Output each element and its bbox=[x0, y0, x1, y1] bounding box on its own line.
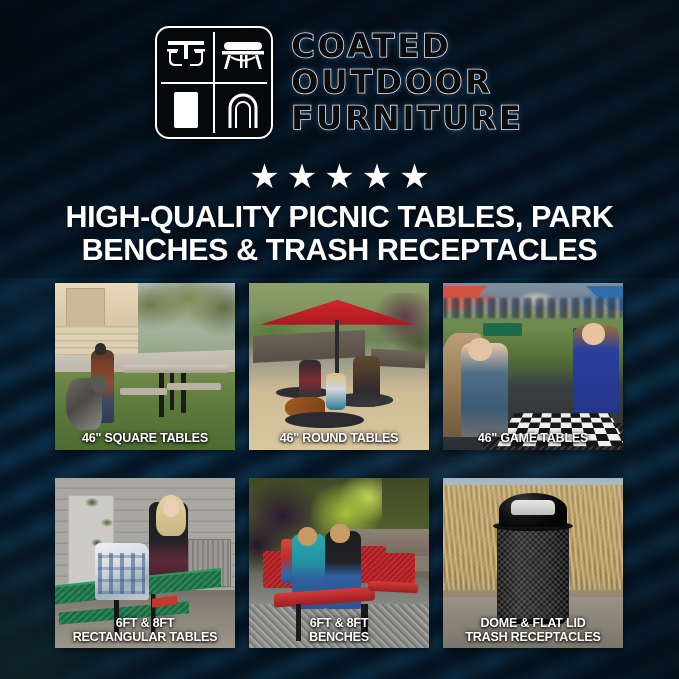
caption-line-1: 46" SQUARE TABLES bbox=[58, 432, 232, 446]
tile-caption: 6FT & 8FT RECTANGULAR TABLES bbox=[58, 617, 232, 644]
trash-receptacle-icon bbox=[157, 83, 214, 138]
caption-line-1: 46" ROUND TABLES bbox=[252, 432, 426, 446]
page-title: HIGH-QUALITY PICNIC TABLES, PARK BENCHES… bbox=[28, 201, 651, 267]
tile-caption: 46" GAME TABLES bbox=[446, 432, 620, 446]
scene-game-tables bbox=[443, 283, 623, 450]
promo-banner: COATED OUTDOOR FURNITURE ★ ★ ★ ★ ★ HIGH-… bbox=[0, 0, 679, 679]
star-icon: ★ bbox=[324, 160, 354, 194]
wordmark-line-2: OUTDOOR bbox=[291, 65, 523, 100]
caption-line-1: 6FT & 8FT bbox=[58, 617, 232, 631]
wordmark-line-3: FURNITURE bbox=[291, 101, 523, 136]
star-icon: ★ bbox=[249, 160, 279, 194]
product-tile-rectangular-tables[interactable]: 6FT & 8FT RECTANGULAR TABLES bbox=[55, 478, 235, 648]
brand-logo: COATED OUTDOOR FURNITURE bbox=[0, 26, 679, 139]
star-icon: ★ bbox=[362, 160, 392, 194]
caption-line-2: BENCHES bbox=[252, 631, 426, 645]
product-tile-grid: 46" SQUARE TABLES 46" ROUND TABLES bbox=[55, 283, 624, 648]
product-tile-trash-receptacles[interactable]: DOME & FLAT LID TRASH RECEPTACLES bbox=[443, 478, 623, 648]
picnic-table-icon bbox=[157, 28, 214, 83]
trash-can-body bbox=[497, 524, 569, 621]
scene-round-tables bbox=[249, 283, 429, 450]
headline-line-1: HIGH-QUALITY PICNIC TABLES, PARK bbox=[28, 201, 651, 234]
star-rating: ★ ★ ★ ★ ★ bbox=[0, 160, 679, 194]
caption-line-2: TRASH RECEPTACLES bbox=[446, 631, 620, 645]
caption-line-1: 46" GAME TABLES bbox=[446, 432, 620, 446]
product-tile-game-tables[interactable]: 46" GAME TABLES bbox=[443, 283, 623, 450]
headline-line-2: BENCHES & TRASH RECEPTACLES bbox=[28, 234, 651, 267]
star-icon: ★ bbox=[399, 160, 429, 194]
wordmark-line-1: COATED bbox=[291, 29, 523, 64]
product-tile-benches[interactable]: 6FT & 8FT BENCHES bbox=[249, 478, 429, 648]
tile-caption: DOME & FLAT LID TRASH RECEPTACLES bbox=[446, 617, 620, 644]
caption-line-1: DOME & FLAT LID bbox=[446, 617, 620, 631]
coated-outdoor-furniture-logo-mark bbox=[155, 26, 273, 139]
star-icon: ★ bbox=[287, 160, 317, 194]
bike-rack-icon bbox=[214, 83, 271, 138]
bench-icon bbox=[214, 28, 271, 83]
tile-caption: 46" SQUARE TABLES bbox=[58, 432, 232, 446]
brand-wordmark: COATED OUTDOOR FURNITURE bbox=[291, 29, 523, 136]
product-tile-round-tables[interactable]: 46" ROUND TABLES bbox=[249, 283, 429, 450]
tile-caption: 6FT & 8FT BENCHES bbox=[252, 617, 426, 644]
product-tile-square-tables[interactable]: 46" SQUARE TABLES bbox=[55, 283, 235, 450]
tile-caption: 46" ROUND TABLES bbox=[252, 432, 426, 446]
caption-line-1: 6FT & 8FT bbox=[252, 617, 426, 631]
scene-square-tables bbox=[55, 283, 235, 450]
caption-line-2: RECTANGULAR TABLES bbox=[58, 631, 232, 645]
